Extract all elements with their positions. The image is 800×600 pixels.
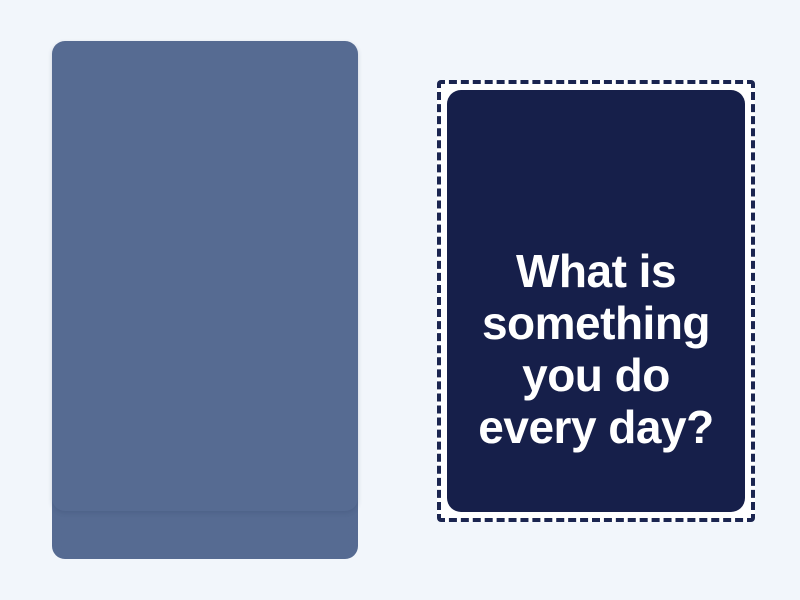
- prompt-card-outline: What is something you do every day?: [437, 80, 755, 522]
- card-deck[interactable]: [52, 41, 358, 547]
- scene-root: What is something you do every day?: [0, 0, 800, 600]
- prompt-question-text: What is something you do every day?: [461, 245, 731, 453]
- deck-top-card[interactable]: [52, 41, 358, 511]
- prompt-card[interactable]: What is something you do every day?: [447, 90, 745, 512]
